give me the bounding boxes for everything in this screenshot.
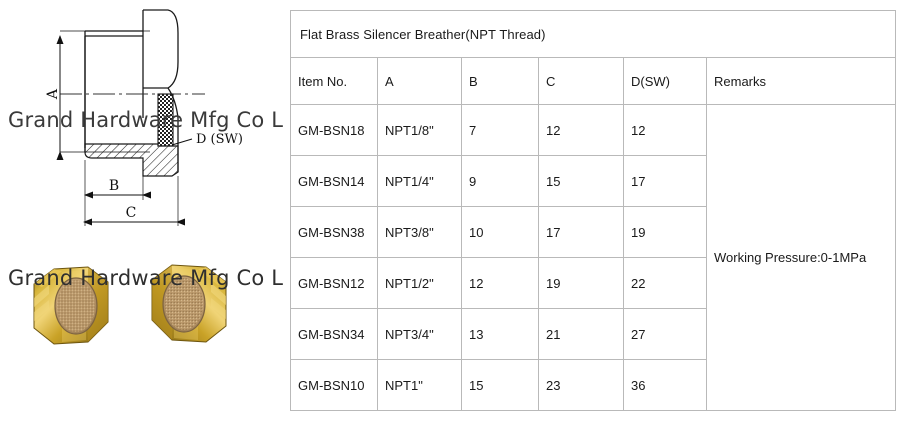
cell-b: 13: [462, 309, 539, 360]
dimension-label-a: A: [45, 88, 61, 100]
cell-remarks: Working Pressure:0-1MPa: [707, 105, 896, 411]
cell-item-no: GM-BSN12: [291, 258, 378, 309]
specification-panel: Flat Brass Silencer Breather(NPT Thread)…: [283, 0, 909, 430]
cell-item-no: GM-BSN18: [291, 105, 378, 156]
cell-c: 15: [539, 156, 624, 207]
brass-breather-left: [16, 258, 120, 354]
cell-c: 17: [539, 207, 624, 258]
specification-table: Flat Brass Silencer Breather(NPT Thread)…: [290, 10, 896, 411]
table-row: GM-BSN18 NPT1/8" 7 12 12 Working Pressur…: [291, 105, 896, 156]
column-header-d-sw: D(SW): [624, 58, 707, 105]
filter-element: [158, 94, 173, 146]
dimension-a: [60, 31, 150, 152]
column-header-b: B: [462, 58, 539, 105]
cell-b: 15: [462, 360, 539, 411]
technical-drawing: A B C D (SW) Grand Hardware Mfg Co Ltd: [0, 0, 283, 228]
cell-item-no: GM-BSN10: [291, 360, 378, 411]
section-hatch: [85, 144, 178, 176]
cell-b: 12: [462, 258, 539, 309]
cell-d-sw: 27: [624, 309, 707, 360]
cell-a: NPT1": [378, 360, 462, 411]
cell-b: 10: [462, 207, 539, 258]
cell-a: NPT1/8": [378, 105, 462, 156]
cell-b: 9: [462, 156, 539, 207]
cell-a: NPT3/8": [378, 207, 462, 258]
cell-d-sw: 19: [624, 207, 707, 258]
cell-c: 21: [539, 309, 624, 360]
cell-c: 19: [539, 258, 624, 309]
dimension-label-c: C: [126, 205, 137, 221]
dimension-label-b: B: [109, 178, 119, 194]
cell-a: NPT1/4": [378, 156, 462, 207]
column-header-remarks: Remarks: [707, 58, 896, 105]
brass-breather-right: [140, 256, 244, 352]
cell-item-no: GM-BSN38: [291, 207, 378, 258]
cell-b: 7: [462, 105, 539, 156]
cell-d-sw: 36: [624, 360, 707, 411]
cell-d-sw: 12: [624, 105, 707, 156]
cell-a: NPT3/4": [378, 309, 462, 360]
cell-c: 23: [539, 360, 624, 411]
dimension-leader-d: [172, 139, 192, 145]
product-photo: Grand Hardware Mfg Co Ltd: [0, 228, 283, 430]
cell-d-sw: 22: [624, 258, 707, 309]
column-header-c: C: [539, 58, 624, 105]
cell-item-no: GM-BSN14: [291, 156, 378, 207]
column-header-item-no: Item No.: [291, 58, 378, 105]
title-row: Flat Brass Silencer Breather(NPT Thread): [291, 11, 896, 58]
cell-a: NPT1/2": [378, 258, 462, 309]
cell-item-no: GM-BSN34: [291, 309, 378, 360]
spec-title: Flat Brass Silencer Breather(NPT Thread): [291, 11, 896, 58]
product-illustration-panel: A B C D (SW) Grand Hardware Mfg Co Ltd: [0, 0, 283, 430]
cell-c: 12: [539, 105, 624, 156]
dimension-label-d: D (SW): [196, 132, 243, 147]
column-header-a: A: [378, 58, 462, 105]
cell-d-sw: 17: [624, 156, 707, 207]
table-header-row: Item No. A B C D(SW) Remarks: [291, 58, 896, 105]
